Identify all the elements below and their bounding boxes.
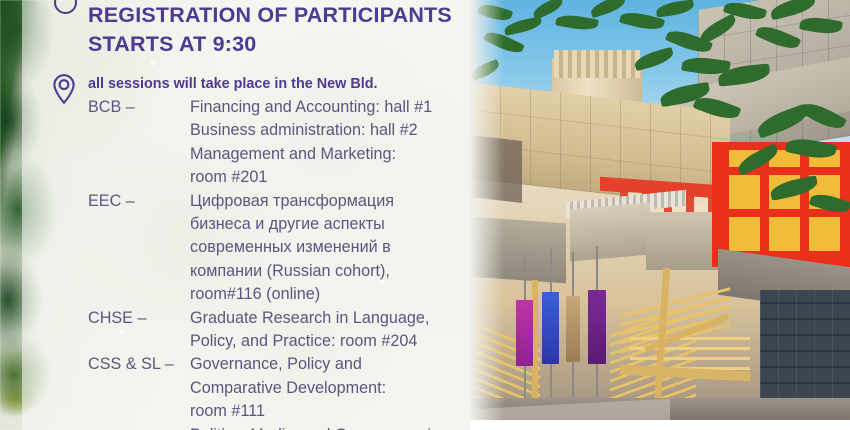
photo-left-edge-fade bbox=[470, 0, 504, 430]
session-code: CHSE – bbox=[88, 307, 190, 330]
event-poster: REGISTRATION OF PARTICIPANTS STARTS AT 9… bbox=[0, 0, 850, 430]
campus-building-photo bbox=[470, 0, 850, 430]
title-line-2: STARTS AT 9:30 bbox=[88, 30, 460, 59]
session-description: Graduate Research in Language, Policy, a… bbox=[190, 307, 470, 354]
venue-note: all sessions will take place in the New … bbox=[88, 75, 468, 94]
session-line: Comparative Development: bbox=[190, 377, 470, 400]
concrete-block-mid bbox=[570, 203, 650, 262]
title-line-1: REGISTRATION OF PARTICIPANTS bbox=[88, 1, 460, 30]
list-item: CHSE – Graduate Research in Language, Po… bbox=[88, 307, 470, 354]
session-line: современных изменений в bbox=[190, 236, 470, 259]
session-line: room #111 bbox=[190, 400, 470, 423]
session-line: Management and Marketing: bbox=[190, 143, 470, 166]
session-line: бизнеса и другие аспекты bbox=[190, 213, 470, 236]
session-line: Governance, Policy and bbox=[190, 353, 470, 376]
banner-magenta bbox=[516, 300, 533, 366]
session-code: BCB – bbox=[88, 96, 190, 119]
session-line: room#116 (online) bbox=[190, 283, 470, 306]
session-line: Цифровая трансформация bbox=[190, 190, 470, 213]
session-description: Цифровая трансформация бизнеса и другие … bbox=[190, 190, 470, 307]
session-description: Governance, Policy and Comparative Devel… bbox=[190, 353, 470, 430]
location-pin-icon bbox=[50, 73, 78, 105]
clock-icon bbox=[54, 0, 77, 14]
photo-bottom-edge bbox=[470, 420, 850, 430]
session-line: Financing and Accounting: hall #1 bbox=[190, 96, 470, 119]
session-line: Politics, Media, and Governance in bbox=[190, 424, 470, 430]
poster-text-content: REGISTRATION OF PARTICIPANTS STARTS AT 9… bbox=[0, 0, 470, 430]
session-line: Business administration: hall #2 bbox=[190, 119, 470, 142]
session-line: компании (Russian cohort), bbox=[190, 260, 470, 283]
list-item: CSS & SL – Governance, Policy and Compar… bbox=[88, 353, 470, 430]
session-code: CSS & SL – bbox=[88, 353, 190, 376]
session-list: BCB – Financing and Accounting: hall #1 … bbox=[88, 96, 470, 430]
tower-fins bbox=[554, 50, 640, 78]
banner-blue bbox=[542, 292, 559, 364]
banner-purple bbox=[588, 290, 606, 364]
session-line: Policy, and Practice: room #204 bbox=[190, 330, 470, 353]
session-code: EEC – bbox=[88, 190, 190, 213]
session-line: room #201 bbox=[190, 166, 470, 189]
list-item: BCB – Financing and Accounting: hall #1 … bbox=[88, 96, 470, 190]
page-title: REGISTRATION OF PARTICIPANTS STARTS AT 9… bbox=[88, 1, 460, 59]
session-line: Graduate Research in Language, bbox=[190, 307, 470, 330]
session-description: Financing and Accounting: hall #1 Busine… bbox=[190, 96, 470, 190]
list-item: EEC – Цифровая трансформация бизнеса и д… bbox=[88, 190, 470, 307]
banner-tan bbox=[566, 296, 580, 362]
